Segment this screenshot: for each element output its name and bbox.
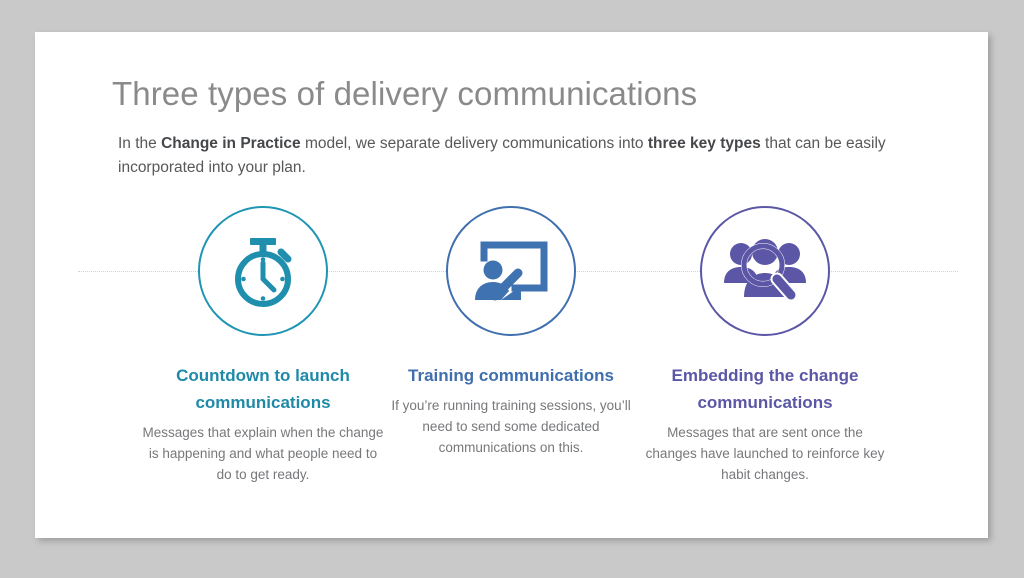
pillar-embedding-heading: Embedding the change communications [640,362,890,416]
pillar-countdown-badge [198,206,328,336]
pillar-countdown-heading: Countdown to launch communications [138,362,388,416]
pillar-training-heading: Training communications [386,362,636,389]
pillar-embedding-body: Messages that are sent once the changes … [640,422,890,485]
intro-paragraph: In the Change in Practice model, we sepa… [118,132,908,180]
intro-text-part2: model, we separate delivery communicatio… [301,135,648,152]
intro-bold-three-key-types: three key types [648,135,761,152]
pillar-embedding: Embedding the change communications Mess… [640,206,890,485]
pillar-countdown-body: Messages that explain when the change is… [138,422,388,485]
people-magnifier-icon [724,235,806,307]
pillar-training-badge [446,206,576,336]
intro-bold-change-in-practice: Change in Practice [161,135,301,152]
page-title: Three types of delivery communications [112,75,697,113]
pillar-embedding-badge [700,206,830,336]
slide-card: Three types of delivery communications I… [35,32,988,538]
pillar-training: Training communications If you’re runnin… [386,206,636,458]
stopwatch-icon [226,232,300,310]
pillar-training-body: If you’re running training sessions, you… [386,395,636,458]
slide-stage: Three types of delivery communications I… [0,0,1024,578]
whiteboard-presentation-icon [471,236,551,306]
pillar-countdown: Countdown to launch communications Messa… [138,206,388,485]
intro-text-part1: In the [118,135,161,152]
